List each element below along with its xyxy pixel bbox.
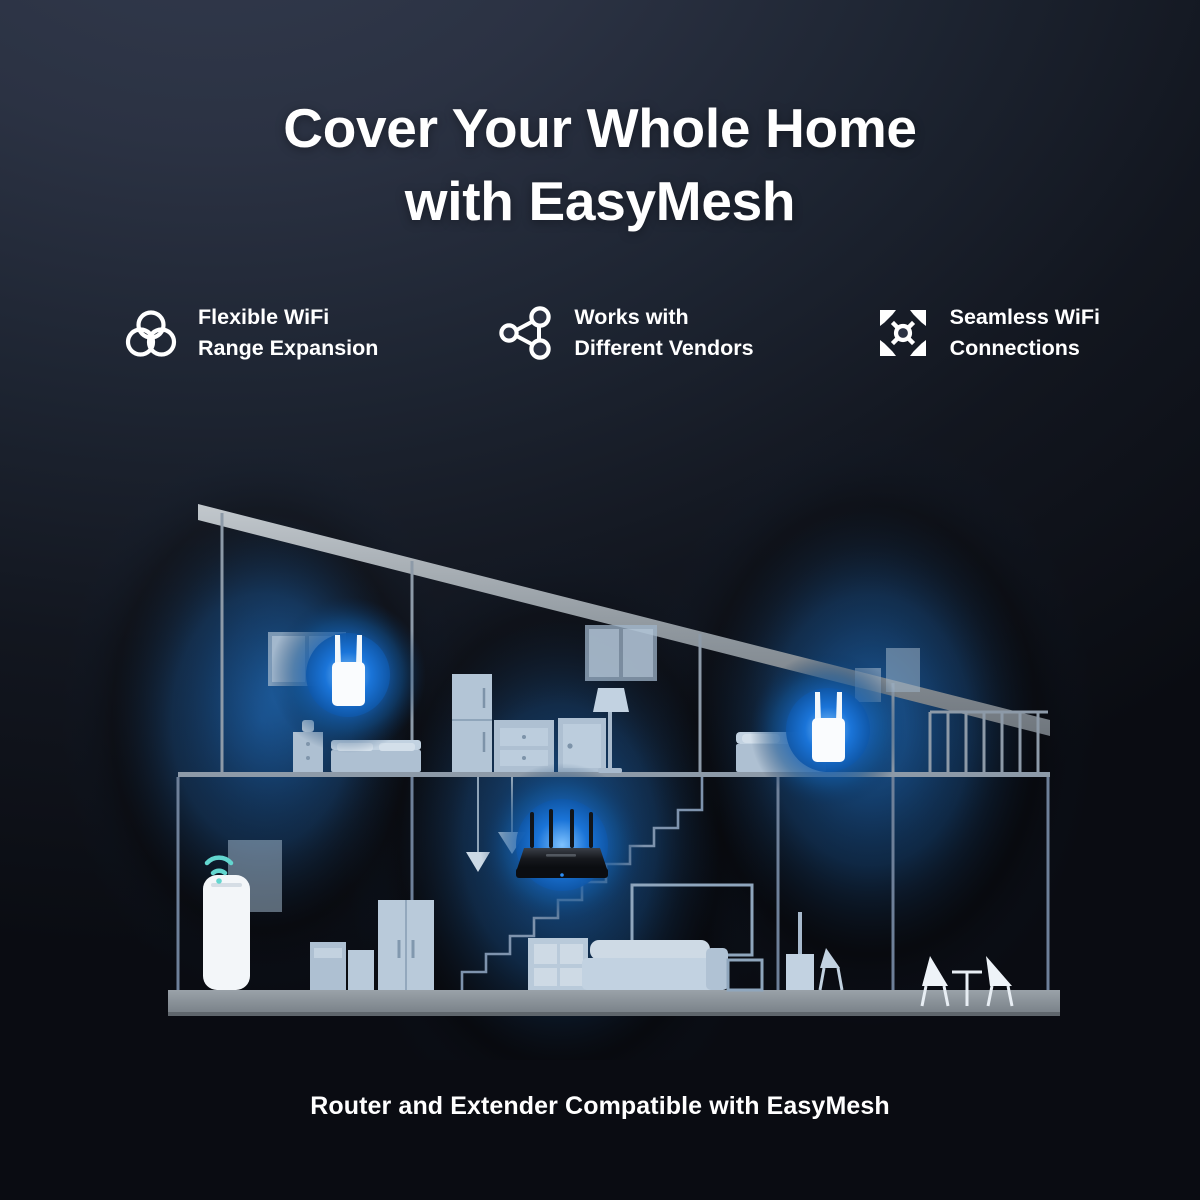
page-title: Cover Your Whole Home with EasyMesh [0,92,1200,238]
wifi-router-ground-floor-center[interactable] [480,763,644,927]
house-coverage-illustration [0,420,1200,1060]
wifi-range-extender-upstairs-left[interactable] [270,597,426,753]
ground-slab-edge [168,1012,1060,1016]
feature-label: Works with Different Vendors [574,302,753,363]
illustration-caption: Router and Extender Compatible with Easy… [0,1092,1200,1121]
feature-line-2: Connections [950,333,1100,364]
feature-label: Seamless WiFi Connections [950,302,1100,363]
smart-water-heater [203,875,250,990]
feature-item-works-with-different-vendors: Works with Different Vendors [496,302,753,364]
feature-label: Flexible WiFi Range Expansion [198,302,378,363]
promo-banner: Cover Your Whole Home with EasyMesh Flex… [0,0,1200,1200]
feature-item-flexible-wifi-range-expansion: Flexible WiFi Range Expansion [120,302,378,364]
title-line-1: Cover Your Whole Home [283,97,916,159]
network-nodes-share-icon [496,302,558,364]
feature-line-1: Works with [574,302,753,333]
window-upper-center [585,625,657,681]
feature-line-1: Seamless WiFi [950,302,1100,333]
ground-slab [168,990,1060,1012]
feature-line-2: Range Expansion [198,333,378,364]
four-way-expand-arrows-icon [872,302,934,364]
wardrobe [378,900,434,990]
refrigerator [452,674,492,772]
sofa [582,940,728,990]
sideboard [528,938,588,990]
feature-item-seamless-wifi-connections: Seamless WiFi Connections [872,302,1100,364]
feature-line-2: Different Vendors [574,333,753,364]
title-line-2: with EasyMesh [0,165,1200,238]
three-interlocking-circles-icon [120,302,182,364]
wifi-range-extender-upstairs-right[interactable] [750,652,906,808]
feature-list: Flexible WiFi Range Expansion Works wi [120,288,1100,378]
feature-line-1: Flexible WiFi [198,302,378,333]
